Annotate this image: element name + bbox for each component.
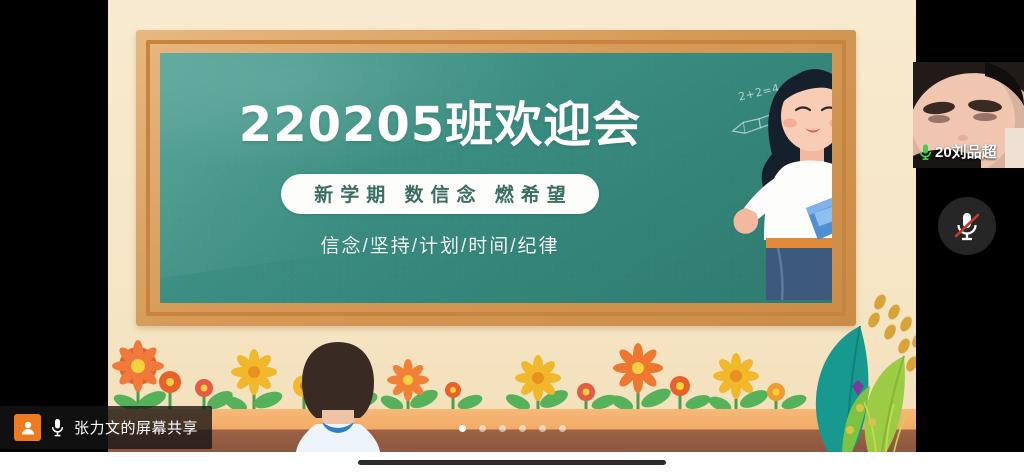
participant-name-badge: 20刘品超 bbox=[919, 141, 997, 162]
participant-name: 20刘品超 bbox=[935, 141, 997, 162]
meeting-screen-share-view: 2+2=4 A+B=C 220205班欢迎会 新学期 数信念 燃希望 信念/坚持… bbox=[0, 0, 1024, 472]
slide-text-block: 220205班欢迎会 新学期 数信念 燃希望 信念/坚持/计划/时间/纪律 bbox=[160, 53, 720, 258]
slide-dot-3[interactable] bbox=[499, 425, 506, 432]
flower-bed-icon bbox=[108, 300, 916, 420]
blackboard-surface: 2+2=4 A+B=C 220205班欢迎会 新学期 数信念 燃希望 信念/坚持… bbox=[160, 53, 832, 303]
slide-subtitle-pill: 新学期 数信念 燃希望 bbox=[281, 174, 599, 214]
blackboard-frame: 2+2=4 A+B=C 220205班欢迎会 新学期 数信念 燃希望 信念/坚持… bbox=[136, 30, 856, 326]
slide-pagination-dots[interactable] bbox=[108, 425, 916, 432]
mute-toggle-button[interactable] bbox=[938, 197, 996, 255]
slide-dot-1[interactable] bbox=[459, 425, 466, 432]
screen-share-indicator-bar[interactable]: 张力文的屏幕共享 bbox=[0, 406, 212, 449]
person-icon bbox=[14, 414, 41, 441]
home-indicator[interactable] bbox=[358, 460, 666, 465]
share-owner-label: 张力文的屏幕共享 bbox=[74, 417, 198, 438]
slide-dot-5[interactable] bbox=[539, 425, 546, 432]
slide-dot-4[interactable] bbox=[519, 425, 526, 432]
slide-tagline: 信念/坚持/计划/时间/纪律 bbox=[160, 231, 720, 258]
slide-dot-2[interactable] bbox=[479, 425, 486, 432]
microphone-muted-icon bbox=[952, 210, 982, 242]
slide-title: 220205班欢迎会 bbox=[160, 85, 720, 155]
slide-dot-6[interactable] bbox=[559, 425, 566, 432]
participant-thumbnail[interactable]: 20刘品超 bbox=[913, 62, 1024, 168]
participants-rail: 20刘品超 bbox=[916, 0, 1024, 452]
shared-screen-content[interactable]: 2+2=4 A+B=C 220205班欢迎会 新学期 数信念 燃希望 信念/坚持… bbox=[108, 0, 916, 452]
microphone-icon bbox=[50, 418, 65, 437]
microphone-on-icon bbox=[919, 144, 932, 160]
student-back-figure-icon bbox=[278, 336, 398, 452]
system-nav-area bbox=[0, 452, 1024, 472]
